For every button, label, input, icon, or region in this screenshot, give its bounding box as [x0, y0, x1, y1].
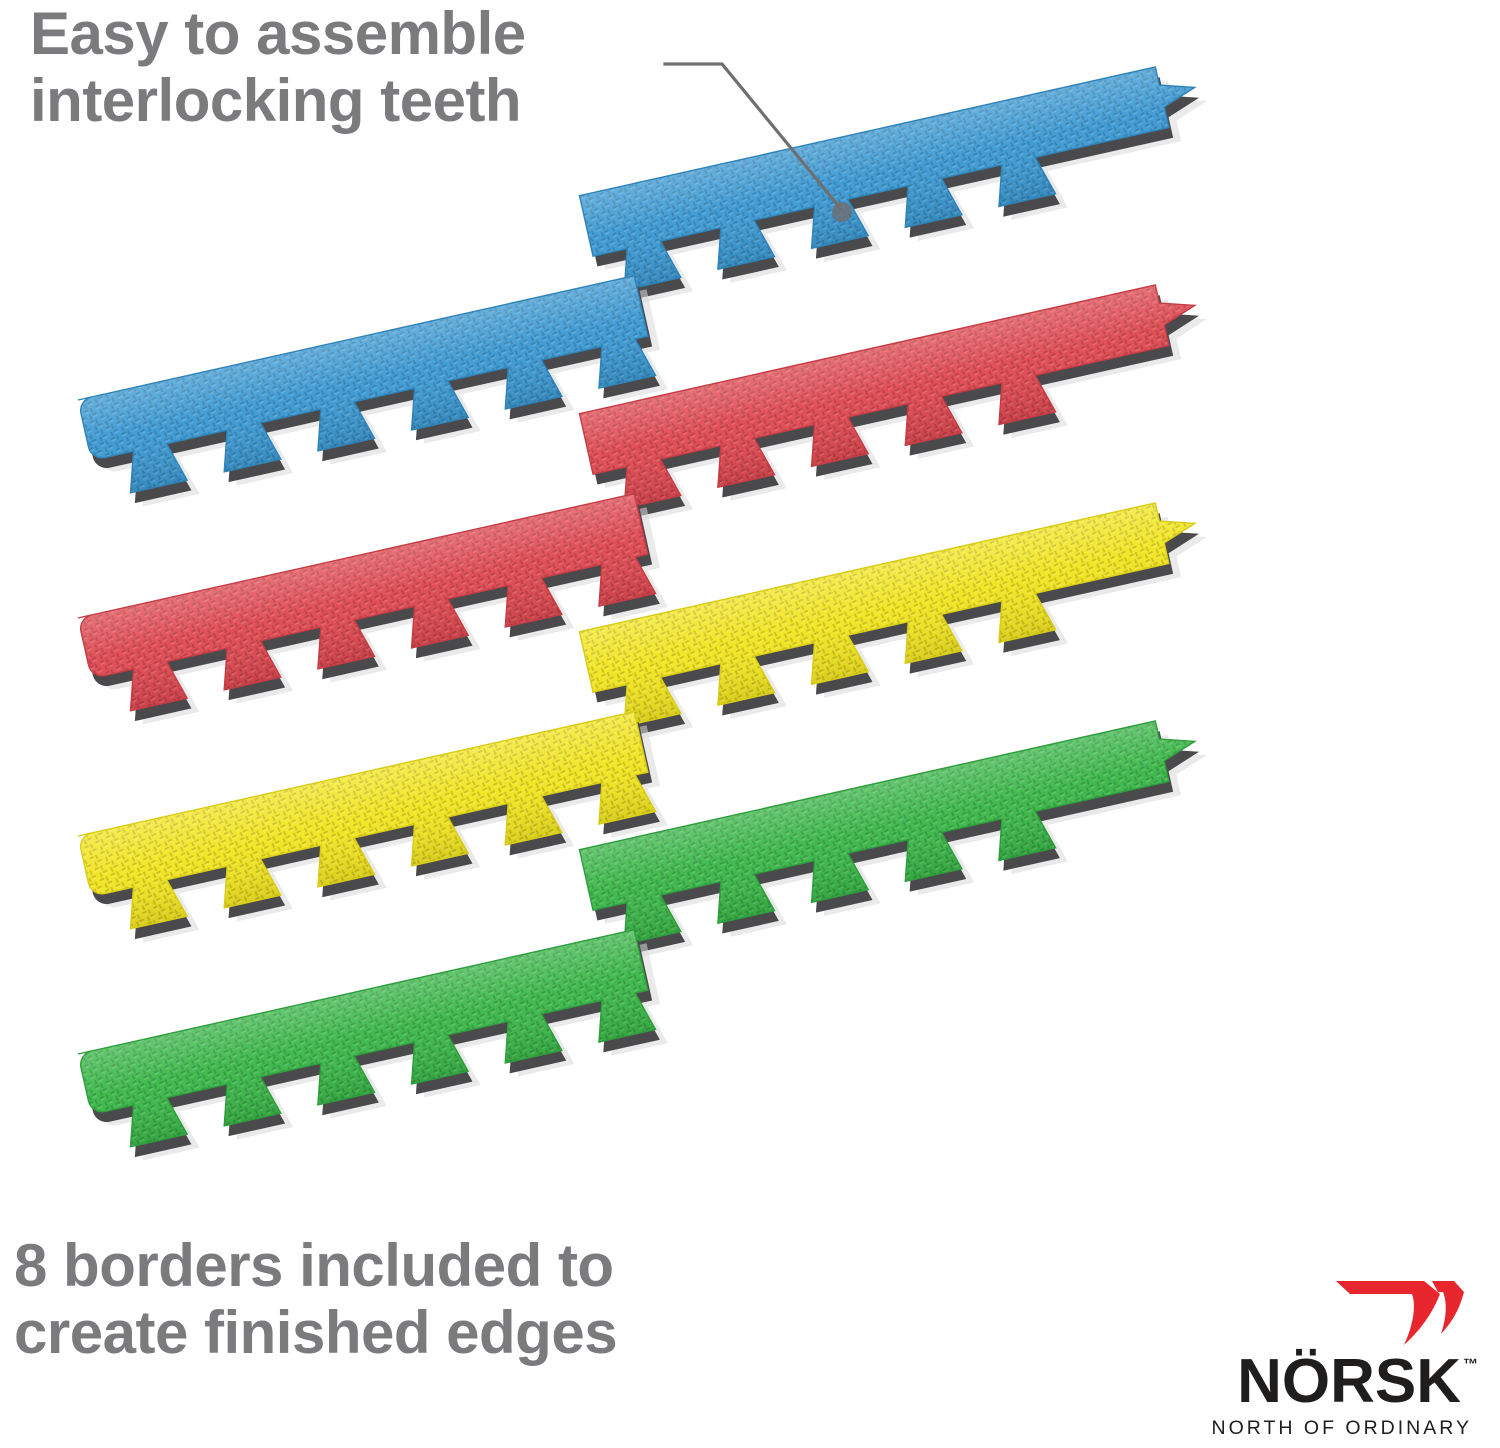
logo-trademark-symbol: ™ [1463, 1357, 1478, 1372]
brand-logo: NÖRSK ™ NORTH OF ORDINARY [1178, 1275, 1478, 1440]
norsk-swoosh-icon [1328, 1275, 1478, 1351]
logo-wordmark: NÖRSK [1237, 1353, 1461, 1410]
logo-wordmark-row: NÖRSK ™ [1178, 1353, 1478, 1410]
logo-tagline: NORTH OF ORDINARY [1178, 1417, 1478, 1440]
leader-endpoint-dot [832, 202, 852, 222]
product-infographic-page: Easy to assemble interlocking teeth 8 bo… [0, 0, 1500, 1448]
callout-leader-line [0, 0, 1500, 1448]
